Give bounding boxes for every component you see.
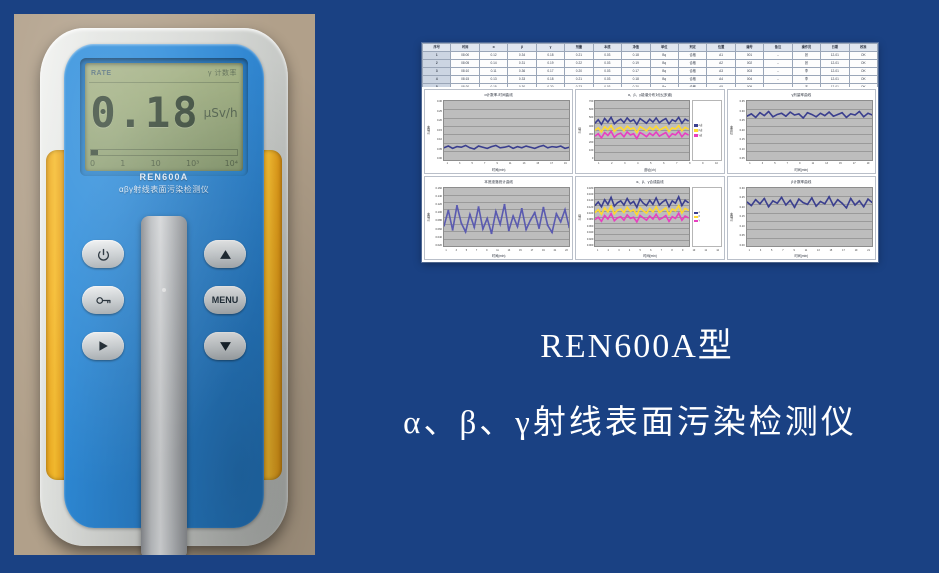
chart-x-tick: 13 [817,249,820,252]
chart-data-point [630,203,632,204]
table-cell: 0.20 [536,84,564,88]
chart-legend-swatch [694,212,698,215]
chart-data-point [598,127,600,128]
chart-data-point [598,133,600,134]
chart-y-tick: 0.080 [582,218,593,221]
chart-data-point [633,200,635,201]
table-cell: 002 [735,60,763,68]
chart-data-point [854,115,856,116]
chart-data-point [469,213,471,214]
table-cell: 0.17 [536,68,564,76]
chart-y-tick: 0.060 [431,228,442,231]
chart-data-point [678,212,680,213]
chart-data-point [607,203,609,204]
chart-data-point [858,200,860,201]
chart-data-point [665,126,667,127]
chart-data-point [630,121,632,122]
table-row[interactable]: 308:100.110.360.170.200.030.17Bq合格A3003-… [423,68,878,76]
chart-data-point [604,199,606,200]
chart-legend-label: γ [699,219,700,222]
measurement-table: 序号时间αβγ剂量本底净值单位判定位置编号备注操作员日期校准 108:000.1… [422,43,878,87]
chart-data-point [685,207,687,208]
chart-y-tick: 600 [582,108,593,111]
table-cell: 12-01 [821,60,849,68]
chart-data-point [678,117,680,118]
chart-data-point [620,208,622,209]
chart-data-point [547,224,549,225]
chart-data-point [789,112,791,113]
chart-y-axis-label: 计数率 [426,100,431,161]
table-cell: 12-01 [821,52,849,60]
lcd-scale-tick: 1 [120,159,125,168]
chart-data-point [495,145,497,146]
chart-data-point [627,206,629,207]
chart-x-tick: 12 [716,249,719,252]
chart-x-tick: 1 [749,162,750,165]
chart-data-point [598,201,600,202]
chart-data-point [652,203,654,204]
chart-x-axis-label: 时间(min) [425,167,572,173]
chart-y-tick: 0.10 [734,148,745,151]
table-cell: 0.22 [565,60,593,68]
chart-x-tick: 5 [639,249,640,252]
chart-data-point [508,146,510,147]
chart-y-tick: 300 [582,133,593,136]
chart-data-point [649,215,651,216]
chart-data-point [630,217,632,218]
table-cell: 0.03 [593,84,621,88]
chart-data-point [636,206,638,207]
table-cell: 4 [423,76,451,84]
chart-data-point [598,209,600,210]
chart-data-point [477,206,479,207]
chart-data-point [490,233,492,234]
chart-x-tick: 5 [771,249,772,252]
chart-x-tick: 9 [793,249,794,252]
chart-x-axis-label: 道址(ch) [576,167,723,173]
power-icon [97,248,110,261]
chart-data-point [551,231,553,232]
chart-x-tick: 19 [867,162,870,165]
chart-data-point [601,131,603,132]
chart-panel[interactable]: α、β、γ合成曲线计数0.1800.1600.1400.1200.1000.08… [575,176,724,261]
table-cell: 合格 [678,76,706,84]
table-row[interactable]: 408:150.130.330.180.210.030.18Bq合格A4004-… [423,76,878,84]
table-cell: OK [849,60,877,68]
chart-data-point [656,197,658,198]
chart-data-point [601,206,603,207]
chart-data-point [867,198,869,199]
chart-x-tick: 19 [542,249,545,252]
chart-x-tick: 5 [472,162,473,165]
chart-data-point [643,128,645,129]
software-screenshot: 序号时间αβγ剂量本底净值单位判定位置编号备注操作员日期校准 108:000.1… [422,43,878,262]
chart-x-tick: 5 [466,249,467,252]
chart-x-tick: 7 [661,249,662,252]
chart-data-point [836,114,838,115]
table-cell: 0.19 [622,60,650,68]
chart-legend-item: α [694,211,720,214]
table-cell: 0.21 [565,52,593,60]
chart-y-tick: 0.10 [431,138,442,141]
chart-x-tick: 10 [715,162,718,165]
chart-data-point [607,218,609,219]
chart-data-point [649,133,651,134]
table-cell: A2 [707,60,735,68]
chart-data-point [656,213,658,214]
chart-x-tick: 21 [554,249,557,252]
chart-data-point [630,129,632,130]
chart-data-point [456,146,458,147]
chart-x-tick: 6 [650,249,651,252]
lcd-status-label: γ 计数率 [208,68,237,78]
chart-data-point [681,212,683,213]
table-cell: 0.18 [536,52,564,60]
chart-data-point [662,128,664,129]
chart-x-axis-label: 时间(min) [728,167,875,173]
table-row[interactable]: 108:000.120.340.180.210.030.18Bq合格A1001-… [423,52,878,60]
table-row[interactable]: 208:050.140.310.190.220.030.19Bq合格A2002-… [423,60,878,68]
lcd-bargraph [90,149,238,156]
chart-data-point [659,204,661,205]
chart-y-tick: 0.25 [431,110,442,113]
menu-button[interactable]: MENU [204,286,246,314]
chart-data-point [482,228,484,229]
chart-data-point [754,117,756,118]
table-cell: -- [764,52,792,60]
chart-data-point [568,227,569,228]
chart-x-tick: 7 [782,249,783,252]
title-block: REN600A型 α、β、γ射线表面污染检测仪 [330,318,930,443]
chart-x-tick: 9 [702,162,703,165]
chart-data-point [789,199,791,200]
up-button[interactable] [204,240,246,268]
lcd-bezel: RATE γ 计数率 0.18 μSv/h 0 1 10 [80,58,248,176]
chart-y-ticks: 0.1600.1400.1200.1000.0800.0600.0400.020 [431,187,443,248]
chart-data-point [681,219,683,220]
chart-data-point [620,127,622,128]
chart-data-point [512,215,514,216]
table-row[interactable]: 508:200.150.300.200.230.030.20Bq合格A5005-… [423,84,878,88]
table-cell: 5 [423,84,451,88]
chart-data-point [776,202,778,203]
table-column-header: 编号 [735,44,763,52]
chart-data-point [627,131,629,132]
chart-x-tick: 3 [762,162,763,165]
chart-plot-area [443,100,570,161]
chart-data-point [652,122,654,123]
chart-data-point [685,133,687,134]
chart-data-point [867,113,869,114]
chart-grid: α计数率-时间曲线计数率0.300.250.200.150.100.050.00… [424,89,876,260]
chart-y-tick: 0.080 [431,219,442,222]
chart-y-tick: 0.040 [582,231,593,234]
chart-data-point [849,113,851,114]
table-column-header: 校准 [849,44,877,52]
lcd-unit-text: μSv/h [204,106,238,120]
chart-data-point [486,148,488,149]
chart-data-point [659,136,661,137]
chart-data-point [672,216,674,217]
table-cell: 0.23 [565,84,593,88]
chart-data-point [656,131,658,132]
chart-data-point [828,196,830,197]
chart-data-point [447,146,449,147]
table-cell: Bq [650,52,678,60]
chart-y-tick: 0.020 [582,238,593,241]
chart-data-point [614,137,616,138]
chart-data-point [620,200,622,201]
chart-data-point [659,122,661,123]
chart-data-point [643,210,645,211]
table-cell: 3 [423,68,451,76]
chart-y-tick: 0.25 [734,119,745,122]
chart-y-axis-label: 计数 [577,100,582,161]
chart-y-tick: 0.20 [734,206,745,209]
table-cell: -- [764,76,792,84]
chart-data-point [627,117,629,118]
chart-data-point [758,112,760,113]
chart-legend-label: β [699,215,700,218]
device-model-block: REN600A αβγ射线表面污染检测仪 [64,172,264,195]
chart-data-point [503,147,505,148]
chart-data-point [614,213,616,214]
chart-y-tick: 0.140 [431,195,442,198]
chart-y-tick: 0.20 [431,119,442,122]
chart-y-ticks: 7006005004003002001000 [582,100,594,161]
chart-x-tick: 17 [550,162,553,165]
chart-series-line [747,196,872,207]
chart-data-point [750,205,752,206]
chart-data-point [516,146,518,147]
chart-data-point [649,119,651,120]
chart-data-point [512,148,514,149]
chart-data-point [836,199,838,200]
table-cell: 0.18 [622,52,650,60]
chart-data-point [564,148,566,149]
handle-dot [162,288,166,292]
chart-plot-area [594,100,689,161]
table-cell: 1 [423,52,451,60]
chart-x-tick: 7 [484,162,485,165]
chart-legend-item: α道 [694,123,720,127]
chart-x-tick: 9 [799,162,800,165]
chart-data-point [529,147,531,148]
chart-x-tick: 13 [825,162,828,165]
chart-series-group [595,188,688,247]
chart-data-point [793,115,795,116]
chart-series-group [747,101,872,160]
chart-panel[interactable]: γ剂量率曲线剂量率0.350.300.250.200.150.100.05135… [727,89,876,174]
chart-data-point [633,119,635,120]
chart-data-point [665,118,667,119]
table-cell: 12-01 [821,84,849,88]
chart-data-point [841,112,843,113]
chart-data-point [832,205,834,206]
table-body: 108:000.120.340.180.210.030.18Bq合格A1001-… [423,52,878,88]
table-column-header: 本底 [593,44,621,52]
chart-data-point [617,134,619,135]
lcd-value-text: 0.18 [90,92,199,134]
lcd-scale-row: 0 1 10 10³ 10⁴ [90,157,238,170]
table-column-header: 备注 [764,44,792,52]
table-cell: 张 [792,60,820,68]
chart-data-point [845,117,847,118]
chart-data-point [776,114,778,115]
chart-data-point [652,218,654,219]
chart-data-point [675,202,677,203]
table-cell: 003 [735,68,763,76]
chart-y-tick: 0.060 [582,225,593,228]
chart-series-line [595,196,688,207]
chart-data-point [630,134,632,135]
chart-y-axis-label: 计数率 [426,187,431,248]
chart-plot-area [746,100,873,161]
chart-data-point [630,210,632,211]
chart-data-point [672,208,674,209]
chart-data-point [444,225,445,226]
chart-data-point [672,119,674,120]
chart-y-tick: 400 [582,125,593,128]
table-cell: 李 [792,76,820,84]
chart-panel[interactable]: β计数率曲线计数率0.300.250.200.150.100.050.00135… [727,176,876,261]
chart-data-point [823,115,825,116]
chart-data-point [473,226,475,227]
triangle-up-icon [219,249,232,260]
chart-data-point [611,213,613,214]
key-icon [96,295,111,306]
chart-legend-label: γ道 [699,133,703,137]
chart-data-point [614,205,616,206]
chart-x-tick: 5 [774,162,775,165]
chart-data-point [623,136,625,137]
table-column-header: 判定 [678,44,706,52]
chart-data-point [636,221,638,222]
chart-data-point [620,119,622,120]
lcd-bargraph-fill [91,150,98,155]
chart-data-point [607,122,609,123]
product-title: α、β、γ射线表面污染检测仪 [330,395,930,443]
chart-y-ticks: 0.300.250.200.150.100.050.00 [734,187,746,248]
chart-data-point [640,214,642,215]
table-cell: 合格 [678,60,706,68]
chart-y-tick: 0.30 [734,187,745,190]
chart-x-axis-label: 时间(min) [425,253,572,259]
table-cell: 0.18 [536,76,564,84]
chart-data-point [607,129,609,130]
menu-button-label: MENU [212,295,239,305]
chart-data-point [633,133,635,134]
chart-data-point [854,204,856,205]
chart-data-point [611,131,613,132]
chart-y-tick: 0.120 [582,206,593,209]
chart-data-point [665,214,667,215]
chart-series-line [747,112,872,118]
chart-data-point [672,127,674,128]
table-column-header: 操作员 [792,44,820,52]
chart-x-tick: 3 [459,162,460,165]
table-cell: 005 [735,84,763,88]
chart-data-point [643,217,645,218]
down-button[interactable] [204,332,246,360]
chart-data-point [652,211,654,212]
chart-data-point [627,126,629,127]
chart-data-point [675,121,677,122]
chart-plot-area [443,187,570,248]
chart-data-point [681,123,683,124]
power-button[interactable] [82,240,124,268]
chart-data-point [620,216,622,217]
key-lock-button[interactable] [82,286,124,314]
lcd-scale-tick: 10⁴ [225,159,238,168]
chart-data-point [758,203,760,204]
chart-data-point [604,214,606,215]
chart-data-point [681,130,683,131]
chart-y-ticks: 0.300.250.200.150.100.050.00 [431,100,443,161]
chart-y-axis-label: 计数 [577,187,582,248]
chart-data-point [675,129,677,130]
chart-data-point [469,147,471,148]
chart-data-point [614,220,616,221]
chart-data-point [617,217,619,218]
table-column-header: 剂量 [565,44,593,52]
chart-data-point [669,137,671,138]
chart-data-point [604,207,606,208]
chart-data-point [643,120,645,121]
chart-data-point [623,122,625,123]
chart-data-point [534,148,536,149]
chart-data-point [672,200,674,201]
chart-panel[interactable]: α计数率-时间曲线计数率0.300.250.200.150.100.050.00… [424,89,573,174]
chart-data-point [659,212,661,213]
chart-data-point [675,134,677,135]
chart-data-point [678,196,680,197]
chart-data-point [551,146,553,147]
chart-data-point [521,207,523,208]
table-cell: OK [849,84,877,88]
chart-data-point [649,127,651,128]
chart-data-point [832,116,834,117]
chart-data-point [486,217,488,218]
table-cell: A4 [707,76,735,84]
chart-data-point [823,203,825,204]
chart-data-point [819,113,821,114]
table-column-header: β [508,44,536,52]
chart-x-tick: 13 [523,162,526,165]
chart-data-point [525,229,527,230]
lcd-status-row: RATE γ 计数率 [91,66,237,80]
chart-data-point [810,197,812,198]
table-cell: -- [764,60,792,68]
device-brand-label: REN600A [64,172,264,182]
chart-data-point [646,219,648,220]
chart-panel[interactable]: 本底涨落统计曲线计数率0.1600.1400.1200.1000.0800.06… [424,176,573,261]
chart-data-point [643,134,645,135]
table-cell: 张 [792,52,820,60]
chart-data-point [538,146,540,147]
chart-x-tick: 1 [447,162,448,165]
chart-data-point [640,207,642,208]
play-button[interactable] [82,332,124,360]
chart-panel[interactable]: α、β、γ能谱分布对比(多道)计数7006005004003002001000α… [575,89,724,174]
chart-x-tick: 2 [608,249,609,252]
chart-data-point [672,133,674,134]
chart-y-tick: 0.100 [431,211,442,214]
chart-legend-swatch [694,216,698,219]
chart-x-tick: 1 [597,249,598,252]
chart-data-point [656,206,658,207]
chart-data-point [521,147,523,148]
